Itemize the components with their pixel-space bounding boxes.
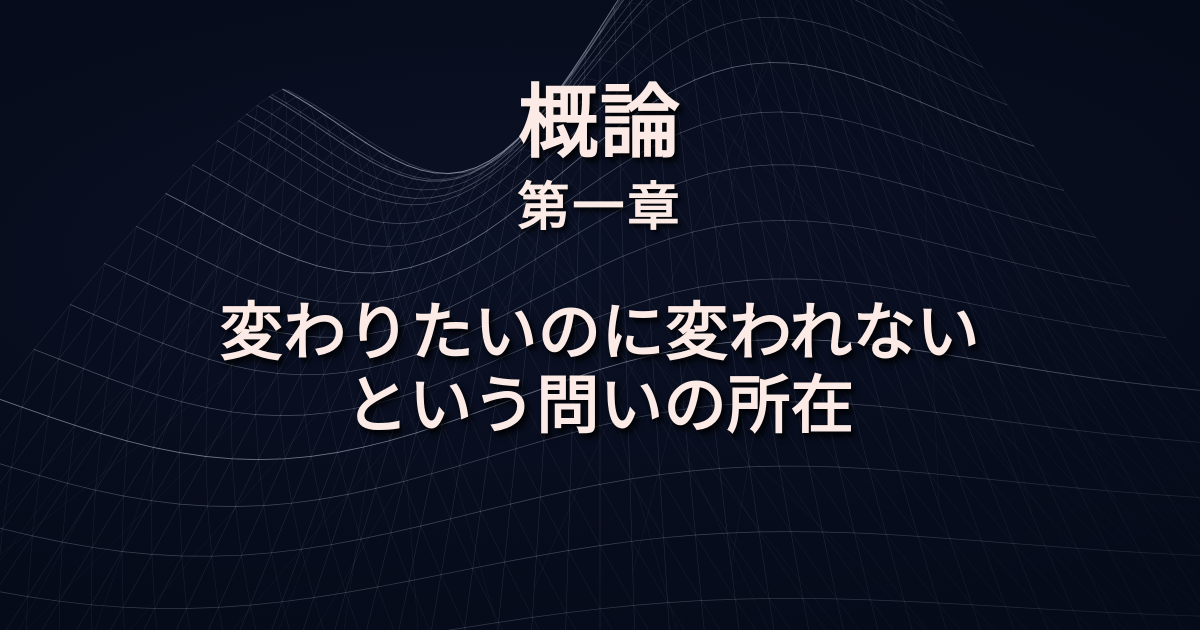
title-slide: 概論 第一章 変わりたいのに変われない という問いの所在 bbox=[0, 0, 1200, 630]
text-block: 概論 第一章 変わりたいのに変われない という問いの所在 bbox=[0, 0, 1200, 630]
headline-line-2: という問いの所在 bbox=[345, 370, 854, 443]
chapter-number: 第一章 bbox=[517, 183, 682, 235]
headline: 変わりたいのに変われない という問いの所在 bbox=[220, 297, 980, 443]
chapter-title: 概論 bbox=[518, 84, 681, 164]
headline-line-1: 変わりたいのに変われない bbox=[220, 297, 980, 370]
